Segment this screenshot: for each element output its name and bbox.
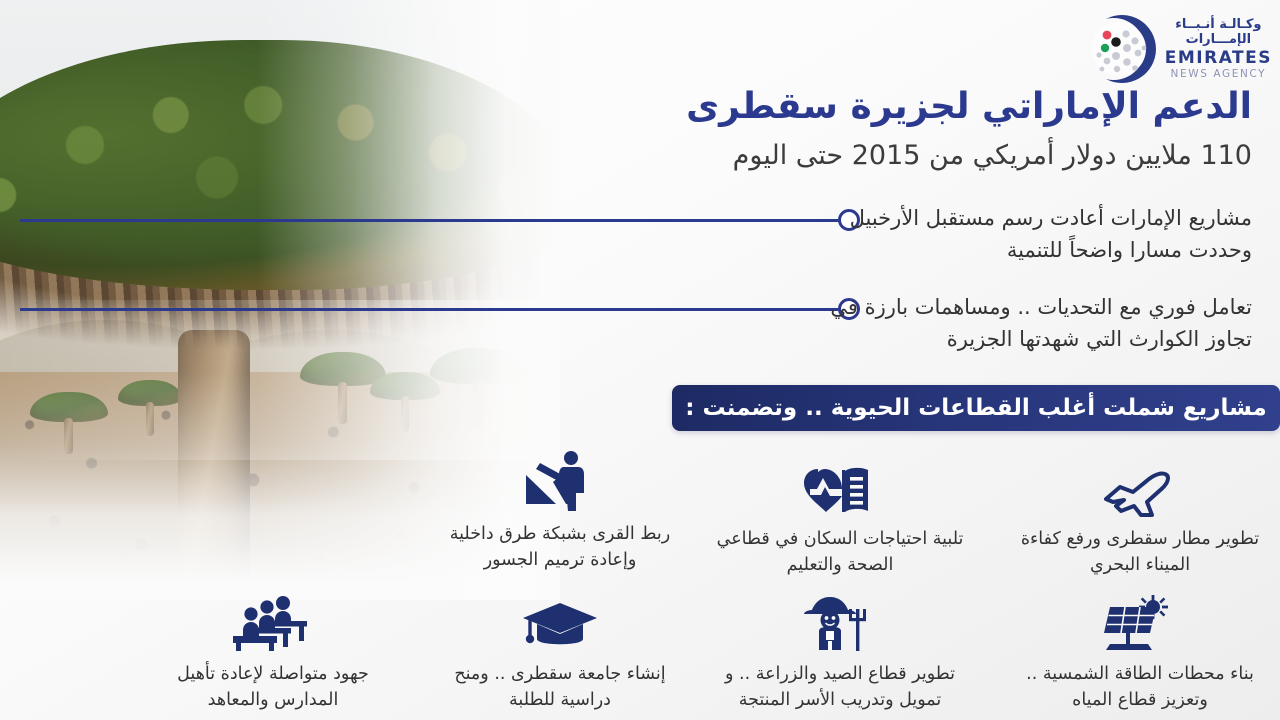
heart-pulse-book-icon (794, 460, 886, 518)
wam-logo: وكـالـة أنـبــاء الإمـــارات EMIRATES NE… (1083, 12, 1272, 86)
sector-schools-rehabilitation-caption: جهود متواصلة لإعادة تأهيل المدارس والمعا… (148, 661, 398, 714)
infographic-canvas: وكـالـة أنـبــاء الإمـــارات EMIRATES NE… (0, 0, 1280, 720)
farmer-icon (800, 595, 880, 653)
background-dragon-tree (118, 380, 182, 436)
classroom-students-icon (225, 595, 321, 653)
sector-solar-water[interactable]: بناء محطات الطاقة الشمسية .. وتعزيز قطاع… (1015, 595, 1265, 714)
sector-schools-rehabilitation[interactable]: جهود متواصلة لإعادة تأهيل المدارس والمعا… (148, 595, 398, 714)
background-dragon-tree (30, 392, 108, 454)
tree-trunk-shape (473, 380, 483, 426)
tree-trunk-shape (64, 418, 73, 454)
sector-fishing-agriculture-caption: تطوير قطاع الصيد والزراعة .. و تمويل وتد… (715, 661, 965, 714)
tree-trunk-shape (338, 382, 347, 424)
sector-university-caption: إنشاء جامعة سقطرى .. ومنح دراسية للطلبة (435, 661, 685, 714)
graduation-cap-icon (521, 595, 599, 653)
tree-trunk-shape (146, 402, 154, 436)
logo-arabic-line-2: الإمـــارات (1165, 33, 1272, 47)
logo-english-line-2: NEWS AGENCY (1165, 69, 1272, 80)
page-title: الدعم الإماراتي لجزيرة سقطرى (532, 86, 1252, 127)
tree-trunk-shape (401, 396, 409, 432)
road-worker-icon (516, 455, 604, 513)
sector-airplane-caption: تطوير مطار سقطرى ورفع كفاءة الميناء البح… (1015, 526, 1265, 579)
sector-fishing-agriculture[interactable]: تطوير قطاع الصيد والزراعة .. و تمويل وتد… (715, 595, 965, 714)
logo-arabic-line-1: وكـالـة أنـبــاء (1165, 18, 1272, 32)
solar-panel-icon (1098, 595, 1182, 653)
sectors-banner: مشاريع شملت أغلب القطاعات الحيوية .. وتض… (672, 385, 1280, 431)
logo-english-line-1: EMIRATES (1165, 50, 1272, 68)
sector-solar-water-caption: بناء محطات الطاقة الشمسية .. وتعزيز قطاع… (1015, 661, 1265, 714)
sectors-banner-text: مشاريع شملت أغلب القطاعات الحيوية .. وتض… (685, 395, 1267, 421)
key-point-1-text: مشاريع الإمارات أعادت رسم مستقبل الأرخبي… (822, 203, 1252, 267)
key-point-1: مشاريع الإمارات أعادت رسم مستقبل الأرخبي… (552, 203, 1252, 267)
sector-health-education[interactable]: تلبية احتياجات السكان في قطاعي الصحة وال… (715, 460, 965, 579)
sector-airplane[interactable]: تطوير مطار سقطرى ورفع كفاءة الميناء البح… (1015, 460, 1265, 579)
page-subtitle: 110 ملايين دولار أمريكي من 2015 حتى اليو… (532, 140, 1252, 171)
sector-roads-bridges[interactable]: ربط القرى بشبكة طرق داخلية وإعادة ترميم … (435, 455, 685, 574)
sector-health-education-caption: تلبية احتياجات السكان في قطاعي الصحة وال… (715, 526, 965, 579)
airplane-icon (1100, 460, 1180, 518)
logo-wordmark: وكـالـة أنـبــاء الإمـــارات EMIRATES NE… (1165, 18, 1272, 79)
sector-university[interactable]: إنشاء جامعة سقطرى .. ومنح دراسية للطلبة (435, 595, 685, 714)
logo-globe-icon (1083, 12, 1157, 86)
key-point-2-text: تعامل فوري مع التحديات .. ومساهمات بارزة… (822, 292, 1252, 356)
sector-roads-bridges-caption: ربط القرى بشبكة طرق داخلية وإعادة ترميم … (435, 521, 685, 574)
key-point-2: تعامل فوري مع التحديات .. ومساهمات بارزة… (552, 292, 1252, 356)
